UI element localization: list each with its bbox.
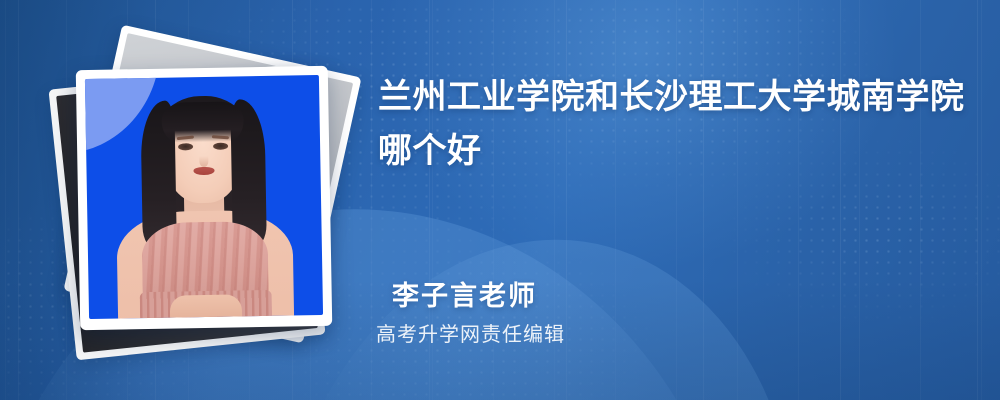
- banner-text-block: 兰州工业学院和长沙理工大学城南学院哪个好 李子言老师 高考升学网责任编辑: [376, 0, 980, 400]
- article-banner: 兰州工业学院和长沙理工大学城南学院哪个好 李子言老师 高考升学网责任编辑: [0, 0, 1000, 400]
- hair-fringe: [161, 101, 244, 142]
- portrait-photo-card: [76, 66, 332, 330]
- hands: [170, 295, 242, 318]
- portrait-figure: [85, 75, 323, 319]
- photo-card-stack: [52, 42, 372, 362]
- author-name: 李子言老师: [392, 274, 537, 313]
- portrait-photo: [85, 75, 323, 319]
- author-role: 高考升学网责任编辑: [376, 318, 565, 347]
- page-title: 兰州工业学院和长沙理工大学城南学院哪个好: [378, 70, 968, 178]
